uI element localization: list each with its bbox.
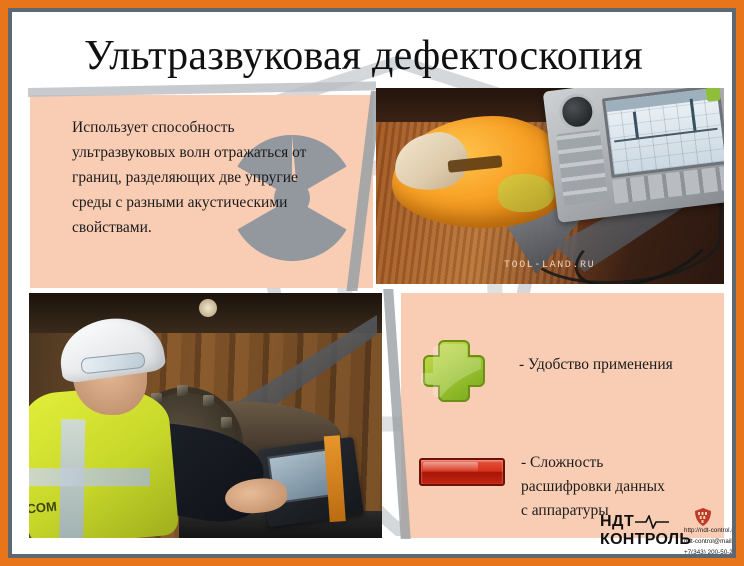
slide-frame: Ультразвуковая дефектоскопия Использует … [0,0,744,566]
detector-screen [602,88,724,178]
slide-canvas: Ультразвуковая дефектоскопия Использует … [12,12,732,554]
advantages-panel: - Удобство применения - Сложность расшиф… [401,293,724,538]
footer-logo-block: НДТ КОНТРОЛЬ http://ndt-control.ru ndt-c… [600,512,732,554]
panel-edge-left [383,289,410,539]
minus-icon [419,458,505,486]
description-text: Использует способность ультразвуковых во… [72,115,322,241]
logo-top-row: НДТ [600,514,680,530]
photo-flaw-detector [543,88,724,223]
photo-instrument-handle [324,435,346,522]
advantage-item-1: - Удобство применения [519,353,719,377]
photo-vest-strip-horizontal [29,468,150,486]
description-panel: Использует способность ультразвуковых во… [30,95,373,288]
detector-keypad [556,129,608,206]
photo-probe-head [498,174,554,212]
detector-knob [557,92,597,132]
page-title: Ультразвуковая дефектоскопия [84,34,732,78]
photo-inspector-at-work: COM [29,293,382,538]
contact-phone: +7(343) 200-50-22 [684,548,732,554]
photo-probe-and-detector: TOOL-LAND.RU [376,88,724,284]
contact-email[interactable]: ndt-control@mail.ru [684,537,732,548]
shield-icon [695,508,711,526]
detector-indicator-led [705,88,721,102]
photo-vest-text: COM [29,499,57,517]
contact-details: http://ndt-control.ru ndt-control@mail.r… [684,526,732,554]
plus-icon [421,338,487,404]
contact-website[interactable]: http://ndt-control.ru [684,526,732,537]
photo-lamp [199,299,217,317]
waveform-icon [635,515,669,529]
company-logo: НДТ КОНТРОЛЬ [600,514,680,549]
photo-watermark-text: TOOL-LAND.RU [504,260,595,271]
panel-edge-top [28,81,376,97]
logo-text-kontrol: КОНТРОЛЬ [600,532,680,549]
slide-inner-frame: Ультразвуковая дефектоскопия Использует … [8,8,736,558]
logo-text-ndt: НДТ [600,514,634,530]
